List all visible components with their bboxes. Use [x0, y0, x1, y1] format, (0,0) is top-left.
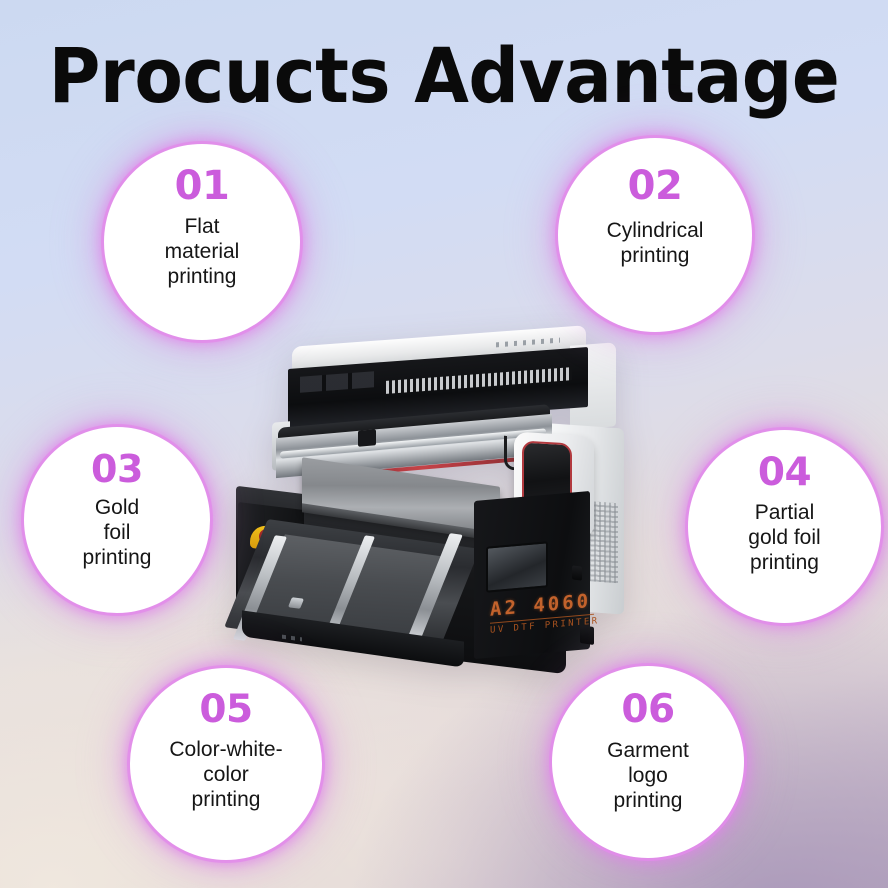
printer-foot-right-rear — [572, 565, 582, 580]
feature-bubble-03[interactable]: 03 Gold foil printing — [24, 427, 210, 613]
feature-bubble-06[interactable]: 06 Garment logo printing — [552, 666, 744, 858]
feature-label-02: Cylindrical printing — [607, 219, 704, 269]
page-title: Procucts Advantage — [31, 38, 857, 114]
feature-label-05: Color-white- color printing — [169, 738, 282, 812]
feature-label-03: Gold foil printing — [83, 496, 152, 570]
printer-foot-right-front — [580, 625, 594, 645]
feature-label-04: Partial gold foil printing — [748, 501, 820, 575]
feature-number-06: 06 — [621, 690, 674, 729]
feature-bubble-01[interactable]: 01 Flat material printing — [104, 144, 300, 340]
printer-carriage-head — [358, 429, 376, 447]
feature-bubble-05[interactable]: 05 Color-white- color printing — [130, 668, 322, 860]
feature-label-06: Garment logo printing — [607, 739, 689, 813]
control-touchscreen[interactable] — [486, 541, 548, 592]
feature-number-02: 02 — [628, 166, 683, 206]
poster-canvas: Procucts Advantage — [0, 0, 888, 888]
feature-bubble-02[interactable]: 02 Cylindrical printing — [558, 138, 752, 332]
feature-bubble-04[interactable]: 04 Partial gold foil printing — [688, 430, 881, 623]
feature-number-04: 04 — [758, 453, 811, 492]
product-image-uv-dtf-printer: A2 4060 UV DTF PRINTER — [228, 330, 632, 670]
feature-number-05: 05 — [199, 690, 252, 729]
feature-label-01: Flat material printing — [165, 215, 240, 289]
feature-number-03: 03 — [91, 450, 143, 488]
feature-number-01: 01 — [175, 166, 230, 206]
